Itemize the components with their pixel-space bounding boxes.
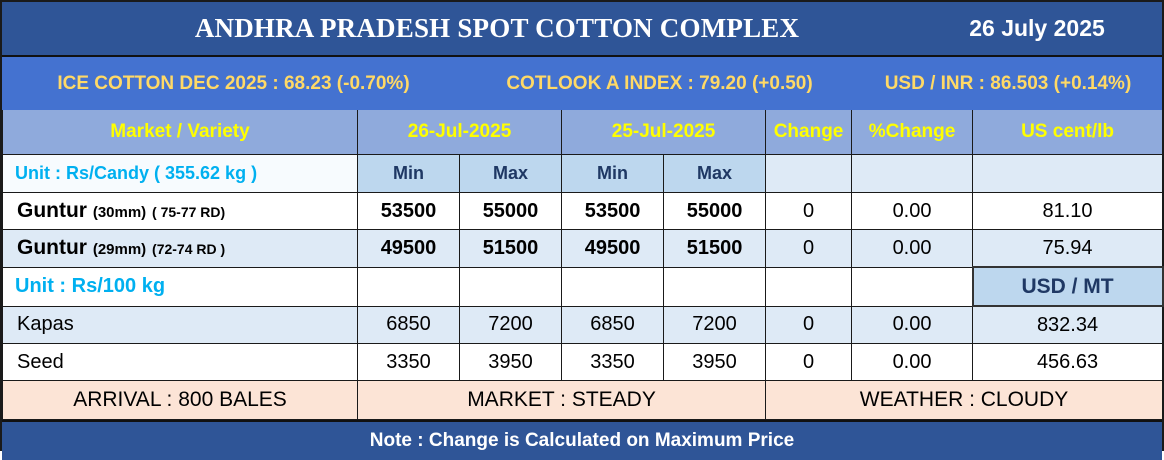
commodity-name-kapas: Kapas <box>3 306 358 344</box>
note-bar: Note : Change is Calculated on Maximum P… <box>2 420 1162 460</box>
cell-change: 0 <box>766 230 852 268</box>
unit-row-change-blank <box>766 155 852 193</box>
cell-change: 0 <box>766 344 852 381</box>
index-strip: ICE COTTON DEC 2025 : 68.23 (-0.70%) COT… <box>2 57 1162 110</box>
cell-change: 0 <box>766 306 852 344</box>
variety-base-name: Guntur <box>17 199 87 222</box>
cell-prev-min: 53500 <box>562 193 664 230</box>
unit-row-uscent-blank <box>973 155 1163 193</box>
unit-row-candy: Unit : Rs/Candy ( 355.62 kg ) Min Max Mi… <box>3 155 1163 193</box>
cell-today-max: 7200 <box>460 306 562 344</box>
table-row: Kapas 6850 7200 6850 7200 0 0.00 832.34 <box>3 306 1163 344</box>
unit-row-100kg: Unit : Rs/100 kg USD / MT <box>3 267 1163 306</box>
cell-us-cent: 81.10 <box>973 193 1163 230</box>
title-bar: ANDHRA PRADESH SPOT COTTON COMPLEX 26 Ju… <box>2 2 1162 57</box>
cell-pct-change: 0.00 <box>852 306 973 344</box>
unit2-blank-3 <box>562 267 664 306</box>
unit2-blank-5 <box>766 267 852 306</box>
unit-row-pct-blank <box>852 155 973 193</box>
table-row: Guntur (30mm) ( 75-77 RD) 53500 55000 53… <box>3 193 1163 230</box>
col-header-date-prev: 25-Jul-2025 <box>562 110 766 155</box>
summary-weather: WEATHER : CLOUDY <box>766 381 1163 420</box>
variety-spec-rd: ( 75-77 RD) <box>152 204 225 220</box>
cell-prev-max: 3950 <box>664 344 766 381</box>
col-header-pct-change: %Change <box>852 110 973 155</box>
cell-prev-max: 7200 <box>664 306 766 344</box>
variety-name-guntur-29mm: Guntur (29mm) (72-74 RD ) <box>3 230 358 268</box>
unit-label-100kg: Unit : Rs/100 kg <box>3 267 358 306</box>
cell-pct-change: 0.00 <box>852 193 973 230</box>
cell-usd-mt: 456.63 <box>973 344 1163 381</box>
summary-row: ARRIVAL : 800 BALES MARKET : STEADY WEAT… <box>3 381 1163 420</box>
cell-today-min: 3350 <box>358 344 460 381</box>
cell-prev-max: 55000 <box>664 193 766 230</box>
subheader-today-min: Min <box>358 155 460 193</box>
cell-today-min: 53500 <box>358 193 460 230</box>
cell-prev-min: 6850 <box>562 306 664 344</box>
cell-today-max: 51500 <box>460 230 562 268</box>
unit2-blank-1 <box>358 267 460 306</box>
col-header-us-cent: US cent/lb <box>973 110 1163 155</box>
price-table: Market / Variety 26-Jul-2025 25-Jul-2025… <box>2 110 1164 420</box>
index-cotlook-a: COTLOOK A INDEX : 79.20 (+0.50) <box>465 73 854 95</box>
variety-name-guntur-30mm: Guntur (30mm) ( 75-77 RD) <box>3 193 358 230</box>
cell-pct-change: 0.00 <box>852 344 973 381</box>
cell-today-max: 3950 <box>460 344 562 381</box>
cell-pct-change: 0.00 <box>852 230 973 268</box>
cell-change: 0 <box>766 193 852 230</box>
commodity-name-seed: Seed <box>3 344 358 381</box>
unit2-blank-6 <box>852 267 973 306</box>
cell-prev-min: 49500 <box>562 230 664 268</box>
index-ice-cotton: ICE COTTON DEC 2025 : 68.23 (-0.70%) <box>2 73 465 95</box>
cell-usd-mt: 832.34 <box>973 306 1163 344</box>
subheader-today-max: Max <box>460 155 562 193</box>
cell-today-max: 55000 <box>460 193 562 230</box>
col-header-date-today: 26-Jul-2025 <box>358 110 562 155</box>
spot-cotton-report: ANDHRA PRADESH SPOT COTTON COMPLEX 26 Ju… <box>0 0 1164 451</box>
summary-arrival: ARRIVAL : 800 BALES <box>3 381 358 420</box>
unit2-blank-4 <box>664 267 766 306</box>
table-row: Seed 3350 3950 3350 3950 0 0.00 456.63 <box>3 344 1163 381</box>
price-table-wrapper: Market / Variety 26-Jul-2025 25-Jul-2025… <box>2 110 1162 420</box>
table-row: Guntur (29mm) (72-74 RD ) 49500 51500 49… <box>3 230 1163 268</box>
variety-base-name: Guntur <box>17 236 87 259</box>
variety-spec-rd: (72-74 RD ) <box>152 241 225 257</box>
col-header-market: Market / Variety <box>3 110 358 155</box>
unit2-blank-2 <box>460 267 562 306</box>
table-header-row: Market / Variety 26-Jul-2025 25-Jul-2025… <box>3 110 1163 155</box>
cell-today-min: 6850 <box>358 306 460 344</box>
cell-prev-min: 3350 <box>562 344 664 381</box>
cell-us-cent: 75.94 <box>973 230 1163 268</box>
cell-today-min: 49500 <box>358 230 460 268</box>
subheader-prev-max: Max <box>664 155 766 193</box>
index-usd-inr: USD / INR : 86.503 (+0.14%) <box>854 73 1162 95</box>
unit-label-usd-mt: USD / MT <box>973 267 1163 306</box>
variety-spec-staple: (29mm) <box>93 241 146 258</box>
variety-spec-staple: (30mm) <box>93 204 146 221</box>
unit-label-candy: Unit : Rs/Candy ( 355.62 kg ) <box>3 155 358 193</box>
subheader-prev-min: Min <box>562 155 664 193</box>
summary-market: MARKET : STEADY <box>358 381 766 420</box>
cell-prev-max: 51500 <box>664 230 766 268</box>
col-header-change: Change <box>766 110 852 155</box>
report-date: 26 July 2025 <box>912 15 1162 42</box>
